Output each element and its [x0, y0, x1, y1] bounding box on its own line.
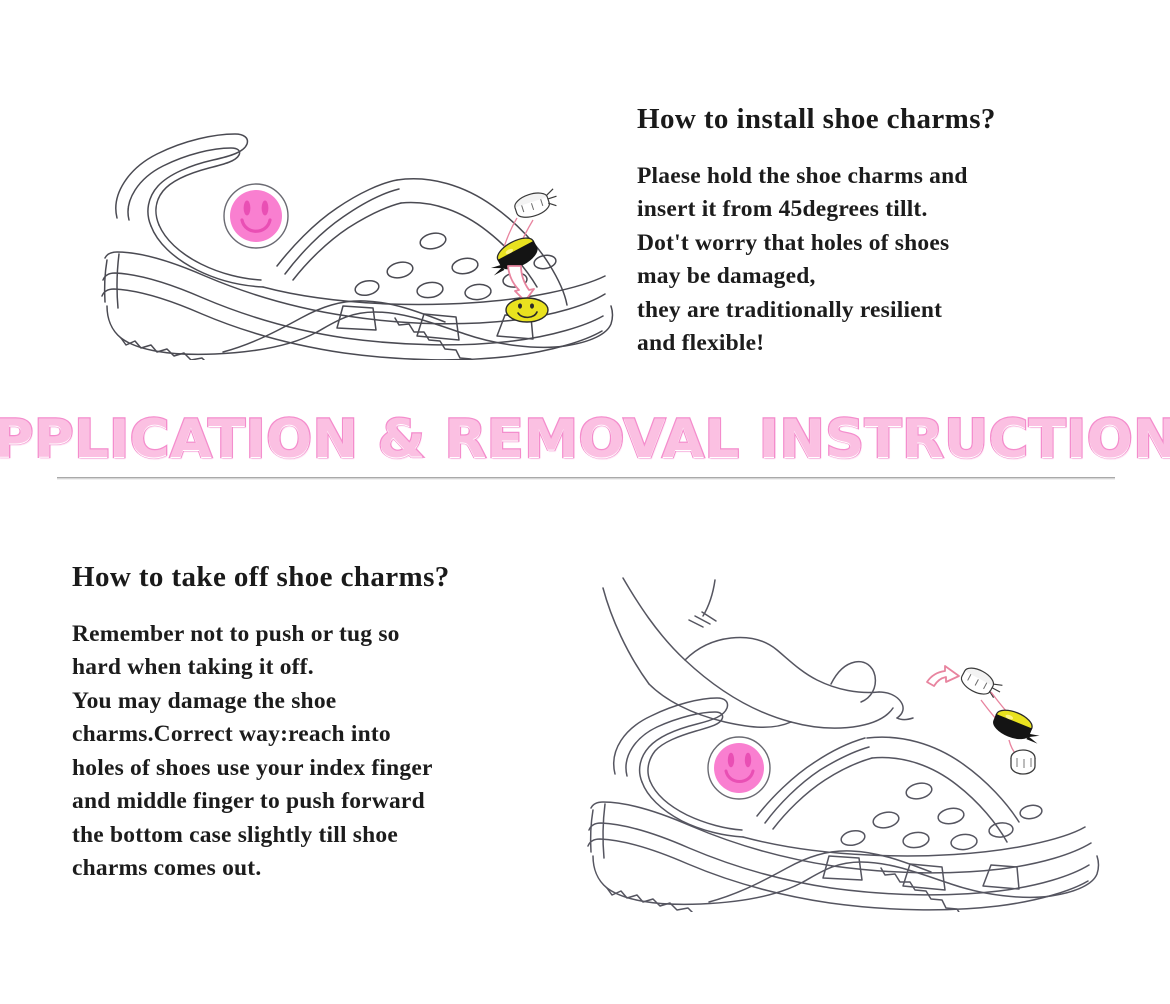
install-body-line: and flexible! [637, 327, 1117, 361]
install-heading: How to install shoe charms? [637, 104, 1117, 136]
removal-body-line: You may damage the shoe [72, 685, 572, 719]
install-body-line: may be damaged, [637, 260, 1117, 294]
removal-body-line: charms comes out. [72, 852, 572, 886]
install-body-line: Plaese hold the shoe charms and [637, 160, 1117, 194]
removal-illustration [545, 572, 1145, 912]
clog-shoe-removal-diagram [545, 572, 1145, 912]
install-text-block: How to install shoe charms? Plaese hold … [637, 104, 1117, 361]
banner: APPLICATION & REMOVAL INSTRUCTIONS [0, 404, 1170, 474]
removal-body-line: hard when taking it off. [72, 651, 572, 685]
removal-heading: How to take off shoe charms? [72, 562, 572, 594]
removal-body-line: Remember not to push or tug so [72, 618, 572, 652]
install-illustration [45, 90, 630, 360]
removal-body: Remember not to push or tug so hard when… [72, 618, 572, 886]
removal-body-line: the bottom case slightly till shoe [72, 819, 572, 853]
charm-post-icon [1011, 750, 1035, 774]
remove-arrow-icon [927, 666, 959, 686]
removal-text-block: How to take off shoe charms? Remember no… [72, 562, 572, 886]
banner-title: APPLICATION & REMOVAL INSTRUCTIONS [0, 413, 1170, 466]
pink-smiley-charm-icon [224, 184, 288, 248]
yellow-smiley-charm-icon [506, 298, 548, 322]
instruction-poster: How to install shoe charms? Plaese hold … [0, 0, 1170, 1004]
removal-body-line: holes of shoes use your index finger [72, 752, 572, 786]
clog-shoe-install-diagram [45, 90, 630, 360]
install-body-line: they are traditionally resilient [637, 294, 1117, 328]
section-divider [57, 477, 1115, 480]
install-body-line: Dot't worry that holes of shoes [637, 227, 1117, 261]
removal-section: How to take off shoe charms? Remember no… [0, 490, 1170, 1004]
pink-smiley-charm-icon [708, 737, 770, 799]
removal-body-line: charms.Correct way:reach into [72, 718, 572, 752]
install-body-line: insert it from 45degrees tillt. [637, 193, 1117, 227]
charm-removal-sequence [927, 664, 1045, 774]
install-body: Plaese hold the shoe charms and insert i… [637, 160, 1117, 361]
removal-body-line: and middle finger to push forward [72, 785, 572, 819]
install-section: How to install shoe charms? Plaese hold … [0, 0, 1170, 400]
